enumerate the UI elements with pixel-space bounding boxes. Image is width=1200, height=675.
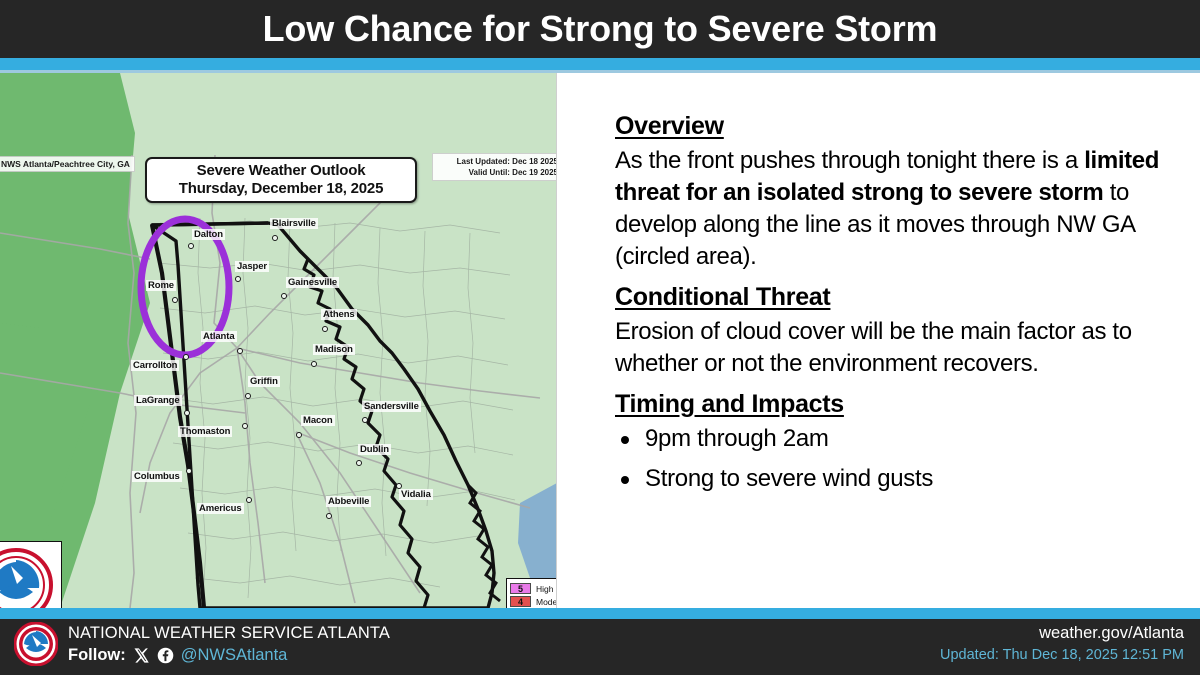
footer-follow-label: Follow: [68, 644, 126, 666]
map-valid-until: Valid Until: Dec 19 2025 [436, 167, 557, 178]
legend-label: High [536, 584, 553, 594]
map-title-line2: Thursday, December 18, 2025 [179, 180, 383, 198]
city-label: Blairsville [270, 218, 318, 229]
city-label: Madison [313, 344, 355, 355]
footer-follow-row: Follow: @NWSAtlanta [68, 644, 390, 666]
city-marker-dot [396, 483, 402, 489]
city-marker-dot [246, 497, 252, 503]
legend-swatch: 4 [510, 596, 531, 607]
map-title-card: Severe Weather Outlook Thursday, Decembe… [145, 157, 417, 203]
map-title-line1: Severe Weather Outlook [197, 162, 366, 180]
city-label: Dublin [358, 444, 391, 455]
city-marker-dot [356, 460, 362, 466]
legend-label: Moderate [536, 597, 557, 607]
city-label: Abbeville [326, 496, 371, 507]
discussion-panel: OverviewAs the front pushes through toni… [557, 73, 1200, 608]
city-label: Vidalia [399, 489, 433, 500]
infographic-root: Low Chance for Strong to Severe Storm [0, 0, 1200, 675]
map-last-updated: Last Updated: Dec 18 2025 [436, 156, 557, 167]
facebook-icon[interactable] [157, 647, 174, 664]
noaa-seal-icon [0, 548, 53, 608]
section-heading: Overview [615, 111, 1170, 141]
city-marker-dot [311, 361, 317, 367]
city-label: Dalton [192, 229, 225, 240]
x-twitter-icon[interactable] [133, 647, 150, 664]
city-label: LaGrange [134, 395, 182, 406]
city-marker-dot [245, 393, 251, 399]
map-legend: 5High4Moderate3Enhanced2Slight1MarginalT… [506, 578, 557, 608]
paragraph-text-lead: Erosion of cloud cover will be the main … [615, 318, 1132, 377]
map-credit: NWS Atlanta/Peachtree City, GA [0, 156, 135, 172]
city-marker-dot [326, 513, 332, 519]
city-label: Columbus [132, 471, 182, 482]
footer-social-handle[interactable]: @NWSAtlanta [181, 644, 288, 666]
footer-accent-bar [0, 608, 1200, 619]
city-label: Jasper [235, 261, 269, 272]
city-label: Macon [301, 415, 335, 426]
bullet-item: 9pm through 2am [615, 423, 1170, 455]
section-bullet-list: 9pm through 2amStrong to severe wind gus… [615, 423, 1170, 495]
nws-seal-icon [14, 622, 58, 666]
city-marker-dot [186, 468, 192, 474]
map-update-stamp: Last Updated: Dec 18 2025 Valid Until: D… [432, 153, 557, 181]
section-paragraph: Erosion of cloud cover will be the main … [615, 316, 1170, 380]
footer-org-name: NATIONAL WEATHER SERVICE ATLANTA [68, 622, 390, 644]
city-label: Athens [321, 309, 357, 320]
city-marker-dot [183, 354, 189, 360]
city-marker-dot [362, 417, 368, 423]
city-marker-dot [242, 423, 248, 429]
footer-branding: NATIONAL WEATHER SERVICE ATLANTA Follow:… [14, 622, 390, 666]
city-label: Americus [197, 503, 244, 514]
city-label: Thomaston [178, 426, 232, 437]
bullet-item: Strong to severe wind gusts [615, 463, 1170, 495]
section-paragraph: As the front pushes through tonight ther… [615, 145, 1170, 273]
city-marker-dot [235, 276, 241, 282]
city-label: Carrollton [131, 360, 179, 371]
section-heading: Conditional Threat [615, 282, 1170, 312]
section-heading: Timing and Impacts [615, 389, 1170, 419]
page-title: Low Chance for Strong to Severe Storm [263, 11, 938, 47]
header-bar: Low Chance for Strong to Severe Storm [0, 0, 1200, 58]
legend-row: 5High [510, 582, 557, 595]
city-marker-dot [322, 326, 328, 332]
city-marker-dot [184, 410, 190, 416]
city-marker-dot [296, 432, 302, 438]
legend-swatch: 5 [510, 583, 531, 594]
city-label: Rome [146, 280, 176, 291]
footer-website-url[interactable]: weather.gov/Atlanta [940, 622, 1184, 645]
city-label: Atlanta [201, 331, 237, 342]
footer-updated-timestamp: Updated: Thu Dec 18, 2025 12:51 PM [940, 645, 1184, 666]
city-label: Gainesville [286, 277, 339, 288]
city-marker-dot [281, 293, 287, 299]
paragraph-text-lead: As the front pushes through tonight ther… [615, 147, 1084, 174]
city-marker-dot [237, 348, 243, 354]
city-marker-dot [172, 297, 178, 303]
noaa-logo-card: Service Center oaa.gov [0, 541, 62, 608]
city-label: Griffin [248, 376, 280, 387]
footer-links: weather.gov/Atlanta Updated: Thu Dec 18,… [940, 622, 1184, 666]
city-marker-dot [272, 235, 278, 241]
header-accent-bar [0, 58, 1200, 70]
city-label: Sandersville [362, 401, 421, 412]
city-marker-dot [188, 243, 194, 249]
legend-row: 4Moderate [510, 595, 557, 608]
severe-weather-outlook-map[interactable]: NWS Atlanta/Peachtree City, GA Last Upda… [0, 73, 557, 608]
